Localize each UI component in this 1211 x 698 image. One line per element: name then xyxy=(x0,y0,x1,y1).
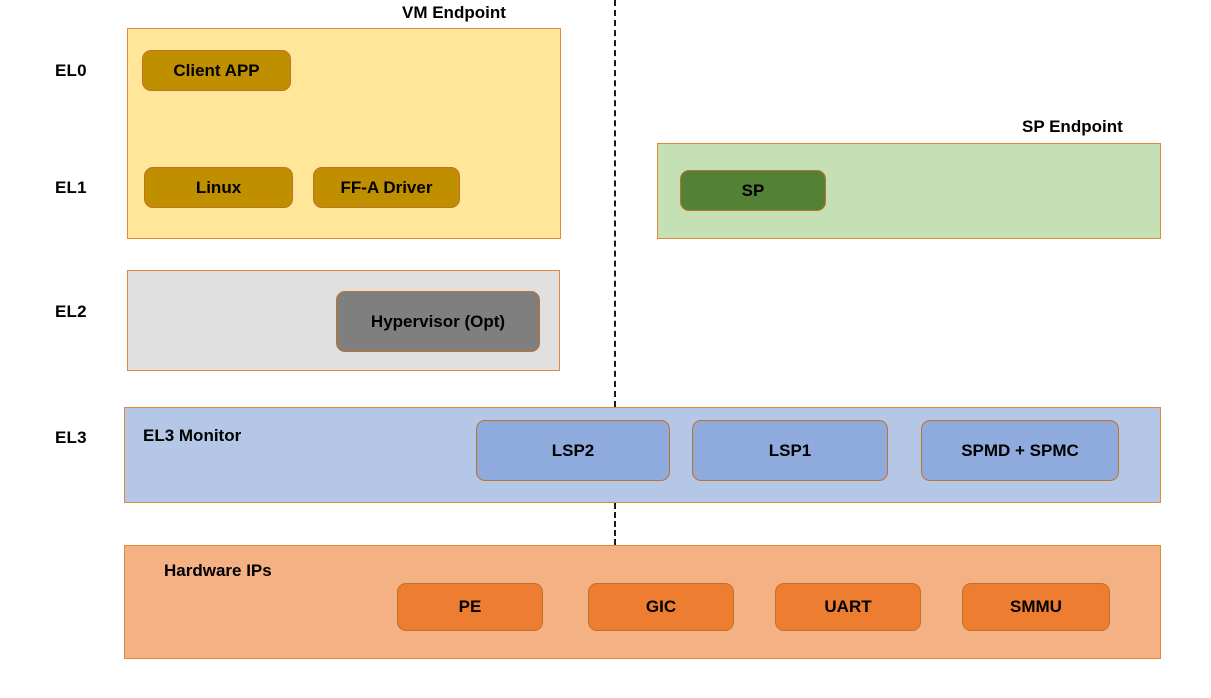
el3-monitor-title: EL3 Monitor xyxy=(143,426,241,446)
world-divider-lower xyxy=(614,503,616,545)
chip-sp-label: SP xyxy=(742,181,765,201)
chip-pe[interactable]: PE xyxy=(397,583,543,631)
chip-sp[interactable]: SP xyxy=(680,170,826,211)
vm-endpoint-caption: VM Endpoint xyxy=(402,3,506,23)
el-label-el0: EL0 xyxy=(55,61,87,81)
chip-spmd-spmc-label: SPMD + SPMC xyxy=(961,441,1079,461)
chip-gic-label: GIC xyxy=(646,597,676,617)
el-label-el3: EL3 xyxy=(55,428,87,448)
chip-client-app-label: Client APP xyxy=(173,61,259,81)
chip-linux-label: Linux xyxy=(196,178,241,198)
hardware-ips-title: Hardware IPs xyxy=(164,561,272,581)
chip-lsp1-label: LSP1 xyxy=(769,441,812,461)
chip-ffa-driver[interactable]: FF-A Driver xyxy=(313,167,460,208)
chip-lsp2-label: LSP2 xyxy=(552,441,595,461)
chip-ffa-driver-label: FF-A Driver xyxy=(341,178,433,198)
chip-uart[interactable]: UART xyxy=(775,583,921,631)
chip-gic[interactable]: GIC xyxy=(588,583,734,631)
world-divider-upper xyxy=(614,0,616,407)
el-label-el2: EL2 xyxy=(55,302,87,322)
chip-lsp2[interactable]: LSP2 xyxy=(476,420,670,481)
el-label-el1: EL1 xyxy=(55,178,87,198)
chip-smmu-label: SMMU xyxy=(1010,597,1062,617)
chip-smmu[interactable]: SMMU xyxy=(962,583,1110,631)
chip-lsp1[interactable]: LSP1 xyxy=(692,420,888,481)
chip-hypervisor[interactable]: Hypervisor (Opt) xyxy=(336,291,540,352)
chip-hypervisor-label: Hypervisor (Opt) xyxy=(371,312,505,332)
chip-pe-label: PE xyxy=(459,597,482,617)
chip-uart-label: UART xyxy=(824,597,871,617)
diagram-canvas: VM Endpoint SP Endpoint EL0 EL1 EL2 EL3 … xyxy=(0,0,1211,698)
chip-client-app[interactable]: Client APP xyxy=(142,50,291,91)
chip-spmd-spmc[interactable]: SPMD + SPMC xyxy=(921,420,1119,481)
chip-linux[interactable]: Linux xyxy=(144,167,293,208)
sp-endpoint-caption: SP Endpoint xyxy=(1022,117,1123,137)
